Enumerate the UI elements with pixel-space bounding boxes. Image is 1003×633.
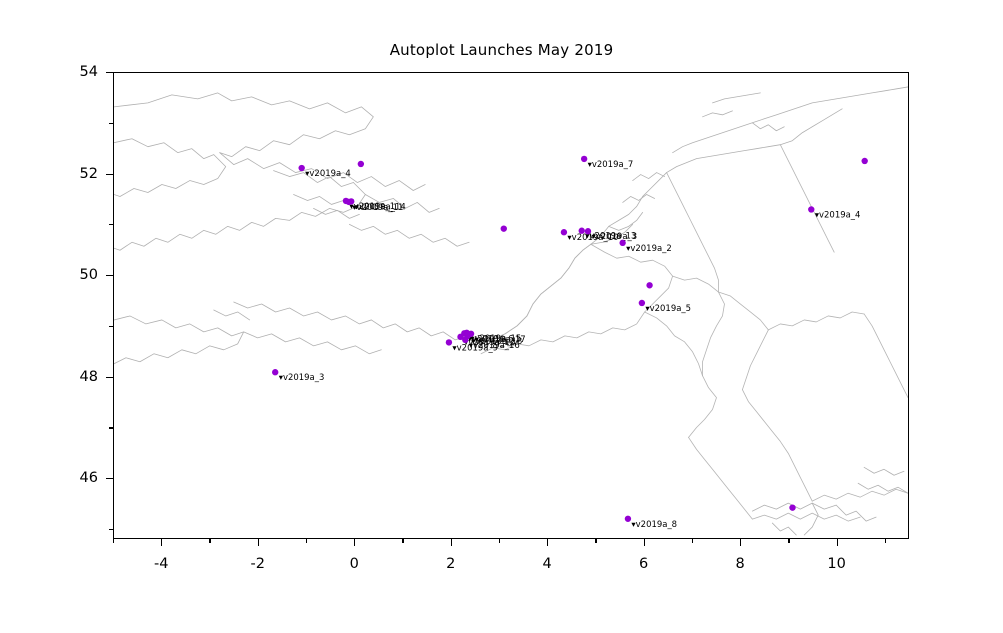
- x-tick-minor: [306, 539, 307, 543]
- x-tick-label: -2: [250, 556, 264, 572]
- y-tick-major: [106, 478, 113, 479]
- data-point-label: ▾v2019a_2: [626, 243, 672, 253]
- y-tick-major: [106, 174, 113, 175]
- y-tick-label: 54: [80, 64, 98, 80]
- data-point-marker: [585, 228, 591, 234]
- y-tick-label: 46: [80, 470, 98, 486]
- data-point-marker: [579, 228, 585, 234]
- data-point-marker: [462, 337, 468, 343]
- x-tick-label: 8: [736, 556, 745, 572]
- x-tick-minor: [788, 539, 789, 543]
- y-tick-major: [106, 275, 113, 276]
- data-point-marker: [446, 339, 452, 345]
- data-point-marker: [298, 165, 304, 171]
- y-tick-minor: [109, 326, 113, 327]
- data-point-marker: [561, 229, 567, 235]
- data-point-marker: [468, 331, 474, 337]
- data-point-marker: [861, 158, 867, 164]
- data-point-marker: [348, 198, 354, 204]
- x-tick-minor: [595, 539, 596, 543]
- y-tick-label: 50: [80, 267, 98, 283]
- x-tick-minor: [499, 539, 500, 543]
- data-point-label: ▾v2019a_17: [475, 334, 526, 344]
- data-point-marker: [358, 161, 364, 167]
- x-tick-label: -4: [154, 556, 168, 572]
- y-tick-minor: [109, 123, 113, 124]
- map-plot-area: ▾v2019a_4▾v2019a_1▾v2019a_11▾v2019a_14▾v…: [113, 72, 909, 539]
- data-point-marker: [619, 240, 625, 246]
- x-tick-major: [354, 539, 355, 546]
- data-point-label: ▾v2019a_7: [588, 159, 634, 169]
- x-tick-label: 2: [446, 556, 455, 572]
- data-point-label: ▾v2019a_8: [631, 519, 677, 529]
- x-tick-major: [258, 539, 259, 546]
- y-tick-major: [106, 377, 113, 378]
- x-tick-minor: [402, 539, 403, 543]
- x-tick-label: 6: [639, 556, 648, 572]
- x-tick-major: [547, 539, 548, 546]
- x-tick-major: [837, 539, 838, 546]
- data-point-marker: [581, 156, 587, 162]
- y-tick-minor: [109, 224, 113, 225]
- x-tick-major: [740, 539, 741, 546]
- chart-figure: Autoplot Launches May 2019: [0, 0, 1003, 633]
- data-point-label: ▾v2019a_3: [591, 231, 637, 241]
- data-point-label: ▾v2019a_4: [815, 209, 861, 219]
- y-tick-label: 52: [80, 166, 98, 182]
- page-title: Autoplot Launches May 2019: [0, 41, 1003, 59]
- data-point-marker: [501, 225, 507, 231]
- data-point-marker: [808, 206, 814, 212]
- data-point-marker: [789, 504, 795, 510]
- country-borders-and-points: ▾v2019a_4▾v2019a_1▾v2019a_11▾v2019a_14▾v…: [114, 73, 908, 538]
- x-tick-minor: [885, 539, 886, 543]
- x-tick-label: 4: [543, 556, 552, 572]
- data-points-layer: ▾v2019a_4▾v2019a_1▾v2019a_11▾v2019a_14▾v…: [272, 156, 868, 529]
- data-point-marker: [646, 282, 652, 288]
- data-point-label: ▾v2019a_5: [645, 303, 691, 313]
- data-point-label: ▾v2019a_14: [355, 201, 406, 211]
- data-point-label: ▾v2019a_3: [279, 372, 325, 382]
- x-tick-minor: [113, 539, 114, 543]
- x-tick-major: [451, 539, 452, 546]
- x-tick-major: [644, 539, 645, 546]
- data-point-marker: [639, 300, 645, 306]
- x-tick-minor: [692, 539, 693, 543]
- data-point-marker: [625, 516, 631, 522]
- x-tick-minor: [209, 539, 210, 543]
- data-point-marker: [272, 369, 278, 375]
- y-tick-minor: [109, 427, 113, 428]
- x-tick-major: [161, 539, 162, 546]
- data-point-label: ▾v2019a_4: [305, 168, 351, 178]
- x-tick-label: 10: [827, 556, 845, 572]
- y-tick-label: 48: [80, 369, 98, 385]
- y-tick-minor: [109, 529, 113, 530]
- x-tick-label: 0: [350, 556, 359, 572]
- y-tick-major: [106, 72, 113, 73]
